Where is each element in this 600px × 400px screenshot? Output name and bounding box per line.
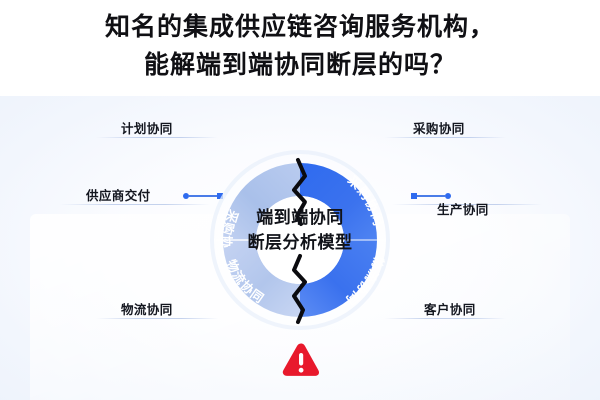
label-plan: 计划协同: [121, 118, 173, 137]
guide-line-mid-left: [60, 204, 210, 205]
connector-right: [411, 192, 451, 200]
guide-line-bottom-right: [384, 318, 506, 319]
guide-line-top-right: [384, 137, 506, 138]
center-label: 端到端协同 断层分析模型: [214, 205, 386, 255]
title-line-2: 能解端到端协同断层的吗？: [0, 46, 600, 84]
label-production: 生产协同: [437, 199, 489, 218]
page-title: 知名的集成供应链咨询服务机构， 能解端到端协同断层的吗？: [0, 8, 600, 84]
center-label-line-1: 端到端协同: [214, 205, 386, 230]
label-purchasing: 采购协同: [413, 118, 465, 137]
label-logistics: 物流协同: [121, 299, 173, 318]
guide-line-bottom-left: [96, 318, 218, 319]
title-line-1: 知名的集成供应链咨询服务机构，: [0, 8, 600, 46]
guide-line-top-left: [96, 137, 218, 138]
label-supplier-delivery: 供应商交付: [86, 185, 151, 204]
connector-line: [417, 195, 445, 197]
center-label-line-2: 断层分析模型: [214, 230, 386, 255]
warning-triangle-icon: [281, 341, 321, 379]
diagram-canvas: 知名的集成供应链咨询服务机构， 能解端到端协同断层的吗？ 计划协同 供应商交付 …: [0, 0, 600, 400]
connector-dot-icon: [445, 193, 451, 199]
label-customer: 客户协同: [424, 299, 476, 318]
